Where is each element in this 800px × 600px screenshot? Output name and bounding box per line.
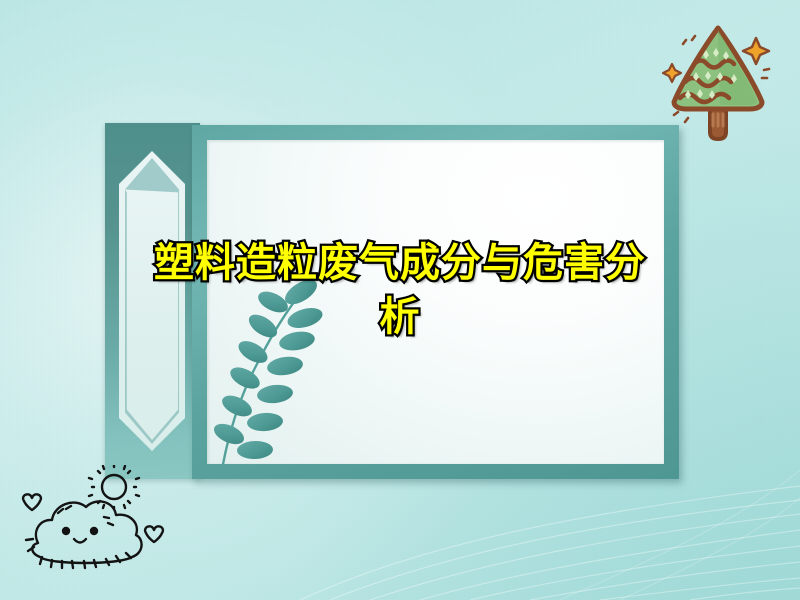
decorative-side-bar <box>105 123 200 479</box>
content-panel <box>207 140 664 464</box>
hexagon-plate <box>119 151 185 451</box>
presentation-slide: 塑料造粒废气成分与危害分 析 <box>0 0 800 600</box>
leaf-branch-icon <box>207 268 341 464</box>
content-frame <box>192 125 679 479</box>
